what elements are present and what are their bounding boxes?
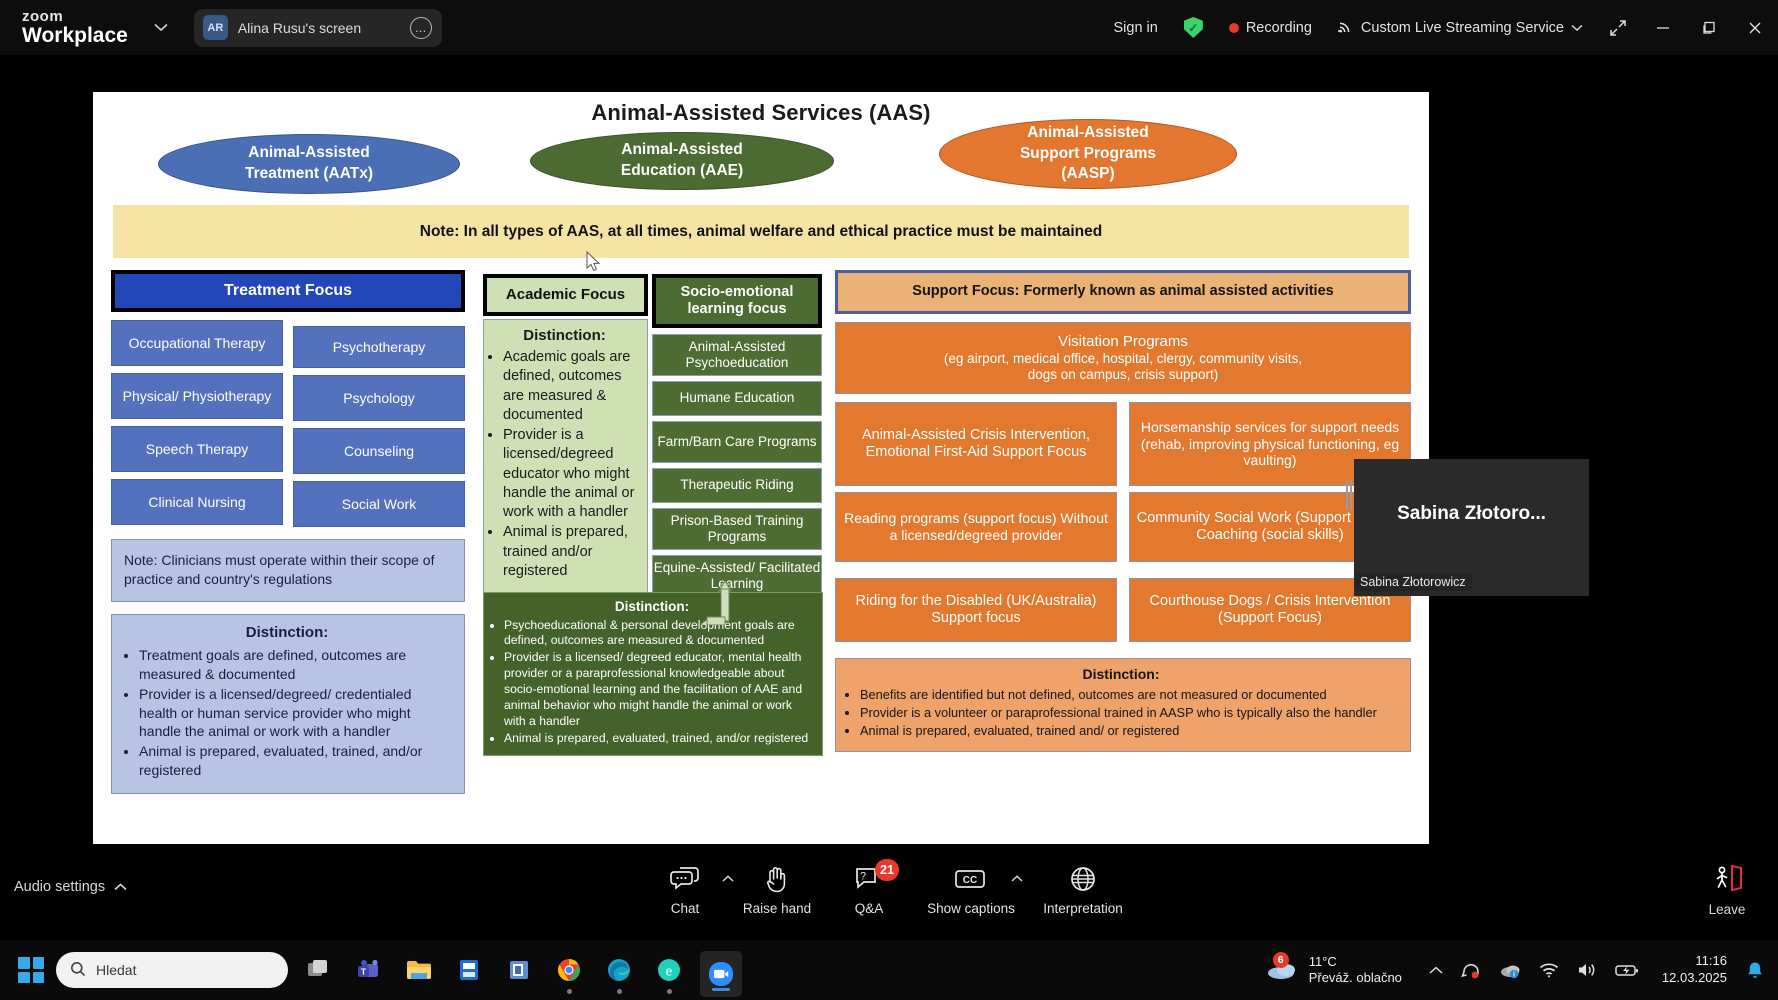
svg-text:e: e (666, 964, 673, 980)
avatar: AR (203, 15, 228, 40)
taskview-icon[interactable] (300, 940, 338, 1000)
shared-screen-stage: Animal-Assisted Services (AAS) Animal-As… (0, 55, 1778, 845)
distinction-bullet: Psychoeducational & personal development… (504, 618, 814, 650)
zoom-title-bar: zoom Workplace AR Alina Rusu's screen … … (0, 0, 1778, 55)
weather-icon: 6 (1266, 955, 1300, 986)
treatment-header: Treatment Focus (111, 270, 465, 312)
hand-icon (764, 863, 790, 895)
treatment-note: Note: Clinicians must operate within the… (111, 539, 465, 602)
socio-chip: Animal-Assisted Psychoeducation (652, 334, 822, 376)
security-shield-icon[interactable]: ✓ (1171, 0, 1216, 55)
qa-button[interactable]: ? 21 Q&A (823, 857, 915, 916)
chevron-up-icon[interactable] (114, 879, 127, 895)
welfare-note-band: Note: In all types of AAS, at all times,… (113, 205, 1409, 258)
leave-button[interactable]: Leave (1692, 863, 1762, 917)
treatment-chip: Psychotherapy (293, 326, 465, 368)
distinction-bullet: Academic goals are defined, outcomes are… (503, 348, 641, 425)
wifi-icon[interactable] (1530, 962, 1568, 978)
slide-title: Animal-Assisted Services (AAS) (93, 100, 1429, 126)
onedrive-icon[interactable]: i (1490, 961, 1530, 979)
title-bar-right: Sign in ✓ Recording Custom Live Streamin… (1100, 0, 1778, 55)
zoom-toolbar: Audio settings Chat (0, 845, 1778, 940)
distinction-title: Distinction: (122, 623, 452, 643)
support-wide-chip-detail: (eg airport, medical office, hospital, c… (944, 351, 1302, 367)
tray-expand-icon[interactable] (1420, 966, 1452, 975)
academic-column: Academic Focus Distinction: Academic goa… (483, 274, 648, 629)
chat-button[interactable]: Chat (639, 857, 731, 916)
academic-distinction: Distinction: Academic goals are defined,… (483, 319, 648, 629)
file-explorer-icon[interactable] (400, 940, 438, 1000)
selfview-display-name: Sabina Złotoro... (1354, 503, 1589, 525)
distinction-bullet: Provider is a licensed/degreed educator … (503, 426, 641, 522)
teams-icon[interactable]: T (350, 940, 388, 1000)
distinction-bullet: Provider is a licensed/degreed/ credenti… (139, 685, 452, 742)
treatment-chip: Clinical Nursing (111, 479, 283, 525)
support-wide-chip-title: Visitation Programs (1058, 333, 1188, 351)
raise-hand-button[interactable]: Raise hand (731, 857, 823, 916)
academic-header: Academic Focus (483, 274, 648, 316)
weather-text: 11°C Převáž. oblačno (1309, 954, 1402, 987)
zoom-logo-line2: Workplace (22, 25, 128, 46)
ellipse-aae: Animal-AssistedEducation (AAE) (530, 132, 834, 190)
weather-desc: Převáž. oblačno (1309, 970, 1402, 986)
search-icon (70, 961, 86, 980)
svg-text:CC: CC (963, 875, 977, 886)
chat-label: Chat (671, 901, 700, 916)
cc-icon: CC (954, 863, 988, 895)
zoom-meeting-window: zoom Workplace AR Alina Rusu's screen … … (0, 0, 1778, 1000)
chevron-down-icon[interactable] (154, 21, 168, 35)
close-button[interactable] (1732, 0, 1778, 55)
selfview-name-tag: Sabina Złotorowicz (1354, 573, 1472, 591)
interpretation-label: Interpretation (1043, 901, 1123, 916)
more-options-icon[interactable]: … (410, 17, 432, 39)
audio-settings-button[interactable]: Audio settings (14, 879, 127, 895)
live-streaming-status[interactable]: Custom Live Streaming Service (1325, 0, 1596, 55)
distinction-bullet-list: Treatment goals are defined, outcomes ar… (122, 646, 452, 780)
treatment-distinction: Distinction: Treatment goals are defined… (111, 614, 465, 794)
socio-distinction: Distinction: Psychoeducational & persona… (483, 592, 823, 756)
treatment-chip: Physical/ Physiotherapy (111, 373, 283, 419)
leave-label: Leave (1709, 902, 1746, 917)
ellipse-aatx: Animal-AssistedTreatment (AATx) (158, 134, 460, 194)
treatment-chip: Psychology (293, 375, 465, 421)
edge-icon[interactable] (600, 940, 638, 1000)
socio-chip: Prison-Based Training Programs (652, 508, 822, 550)
weather-widget[interactable]: 6 11°C Převáž. oblačno (1266, 954, 1420, 987)
selfview-drag-handle[interactable] (1346, 480, 1352, 510)
distinction-bullet: Animal is prepared, evaluated, trained, … (139, 742, 452, 780)
distinction-bullet-list: Benefits are identified but not defined,… (844, 686, 1398, 740)
globe-icon (1069, 863, 1097, 895)
socio-header: Socio-emotional learning focus (652, 274, 822, 328)
zoom-logo-line1: zoom (22, 9, 128, 24)
distinction-bullet: Animal is prepared, evaluated, trained, … (504, 731, 814, 747)
clock-time: 11:16 (1662, 953, 1727, 970)
distinction-title: Distinction: (490, 598, 814, 616)
screen-recording-icon[interactable] (1452, 960, 1490, 980)
recording-label: Recording (1246, 20, 1312, 36)
support-chip: Reading programs (support focus) Without… (835, 492, 1117, 562)
leave-icon (1710, 863, 1744, 898)
windows-taskbar: Hledat T (0, 940, 1778, 1000)
taskbar-clock[interactable]: 11:16 12.03.2025 (1648, 953, 1737, 987)
record-dot-icon (1229, 23, 1239, 33)
zoom-logo: zoom Workplace (22, 9, 128, 46)
shared-screen-label: Alina Rusu's screen (238, 20, 400, 36)
weather-temp: 11°C (1309, 954, 1402, 970)
volume-icon[interactable] (1568, 961, 1606, 979)
interpretation-button[interactable]: Interpretation (1027, 857, 1139, 916)
distinction-bullet-list: Psychoeducational & personal development… (490, 618, 814, 747)
shared-screen-pill[interactable]: AR Alina Rusu's screen … (194, 9, 442, 47)
svg-text:T: T (361, 966, 367, 976)
elbow-arrow-icon (699, 577, 739, 630)
slide-content: Animal-Assisted Services (AAS) Animal-As… (93, 92, 1429, 844)
sign-in-button[interactable]: Sign in (1100, 0, 1170, 55)
support-chip: Animal-Assisted Crisis Intervention, Emo… (835, 402, 1117, 486)
support-column: Support Focus: Formerly known as animal … (835, 270, 1411, 752)
search-placeholder: Hledat (96, 962, 136, 978)
distinction-bullet: Provider is a volunteer or paraprofessio… (860, 704, 1398, 721)
stream-icon (1338, 18, 1354, 38)
distinction-bullet: Benefits are identified but not defined,… (860, 686, 1398, 703)
recording-indicator[interactable]: Recording (1216, 0, 1325, 55)
audio-settings-label: Audio settings (14, 879, 105, 895)
search-input[interactable]: Hledat (56, 952, 288, 988)
show-captions-button[interactable]: CC Show captions (915, 857, 1027, 916)
distinction-bullet: Provider is a licensed/ degreed educator… (504, 650, 814, 729)
weather-badge: 6 (1273, 952, 1289, 968)
chevron-down-icon[interactable] (1571, 20, 1583, 36)
selfview-video-tile[interactable]: Sabina Złotoro... Sabina Złotorowicz (1354, 459, 1589, 596)
chat-icon (670, 863, 700, 895)
zoom-taskbar-icon[interactable] (700, 951, 742, 997)
ellipse-aasp: Animal-AssistedSupport Programs(AASP) (939, 119, 1237, 189)
treatment-column: Treatment Focus Occupational Therapy Phy… (111, 270, 465, 794)
socio-column: Socio-emotional learning focus Animal-As… (652, 274, 822, 597)
support-wide-chip: Visitation Programs (eg airport, medical… (835, 322, 1411, 394)
ellipse-aasp-label: Animal-AssistedSupport Programs(AASP) (1020, 123, 1156, 186)
fullscreen-button[interactable] (1596, 0, 1640, 55)
distinction-bullet: Animal is prepared, evaluated, trained a… (860, 722, 1398, 739)
show-captions-label: Show captions (927, 901, 1015, 916)
socio-chip: Therapeutic Riding (652, 468, 822, 503)
clock-date: 12.03.2025 (1662, 970, 1727, 987)
treatment-chip: Occupational Therapy (111, 320, 283, 366)
shield-icon: ✓ (1184, 17, 1203, 38)
raise-hand-label: Raise hand (743, 901, 811, 916)
printer-icon[interactable] (450, 940, 488, 1000)
stream-label: Custom Live Streaming Service (1361, 20, 1564, 36)
ellipse-aae-label: Animal-AssistedEducation (AAE) (621, 140, 743, 182)
sign-in-label: Sign in (1113, 20, 1157, 36)
battery-icon[interactable] (1606, 962, 1648, 978)
taskbar-apps: Hledat T (18, 940, 742, 1000)
ellipse-aatx-label: Animal-AssistedTreatment (AATx) (245, 143, 373, 185)
distinction-title: Distinction: (488, 326, 641, 346)
support-header: Support Focus: Formerly known as animal … (835, 270, 1411, 314)
windows-start-icon[interactable] (18, 957, 44, 983)
zoom-toolbar-center: Chat Raise hand ? 21 Q&A (639, 857, 1139, 916)
notification-bell-icon[interactable] (1737, 961, 1778, 980)
system-tray: 6 11°C Převáž. oblačno i (1266, 940, 1778, 1000)
socio-chip: Farm/Barn Care Programs (652, 421, 822, 463)
treatment-chip: Counseling (293, 428, 465, 474)
support-chip: Riding for the Disabled (UK/Australia) S… (835, 578, 1117, 642)
qa-badge-count: 21 (875, 859, 899, 881)
support-distinction: Distinction: Benefits are identified but… (835, 658, 1411, 752)
socio-chip: Humane Education (652, 381, 822, 416)
maximize-button[interactable] (1686, 0, 1732, 55)
svg-text:i: i (1513, 972, 1515, 979)
chrome-icon[interactable] (550, 940, 588, 1000)
distinction-bullet-list: Academic goals are defined, outcomes are… (488, 348, 641, 581)
edge-legacy-icon[interactable]: e (650, 940, 688, 1000)
captions-options-caret-icon[interactable] (1011, 871, 1023, 885)
support-wide-chip-detail2: dogs on campus, crisis support) (1028, 367, 1219, 383)
scanner-icon[interactable] (500, 940, 538, 1000)
presentation-frame: Animal-Assisted Services (AAS) Animal-As… (93, 64, 1429, 846)
svg-text:?: ? (860, 871, 866, 883)
distinction-title: Distinction: (844, 665, 1398, 684)
qa-label: Q&A (855, 901, 884, 916)
treatment-chip: Speech Therapy (111, 426, 283, 472)
treatment-chip: Social Work (293, 481, 465, 527)
minimize-button[interactable] (1640, 0, 1686, 55)
distinction-bullet: Treatment goals are defined, outcomes ar… (139, 646, 452, 684)
distinction-bullet: Animal is prepared, trained and/or regis… (503, 523, 641, 581)
